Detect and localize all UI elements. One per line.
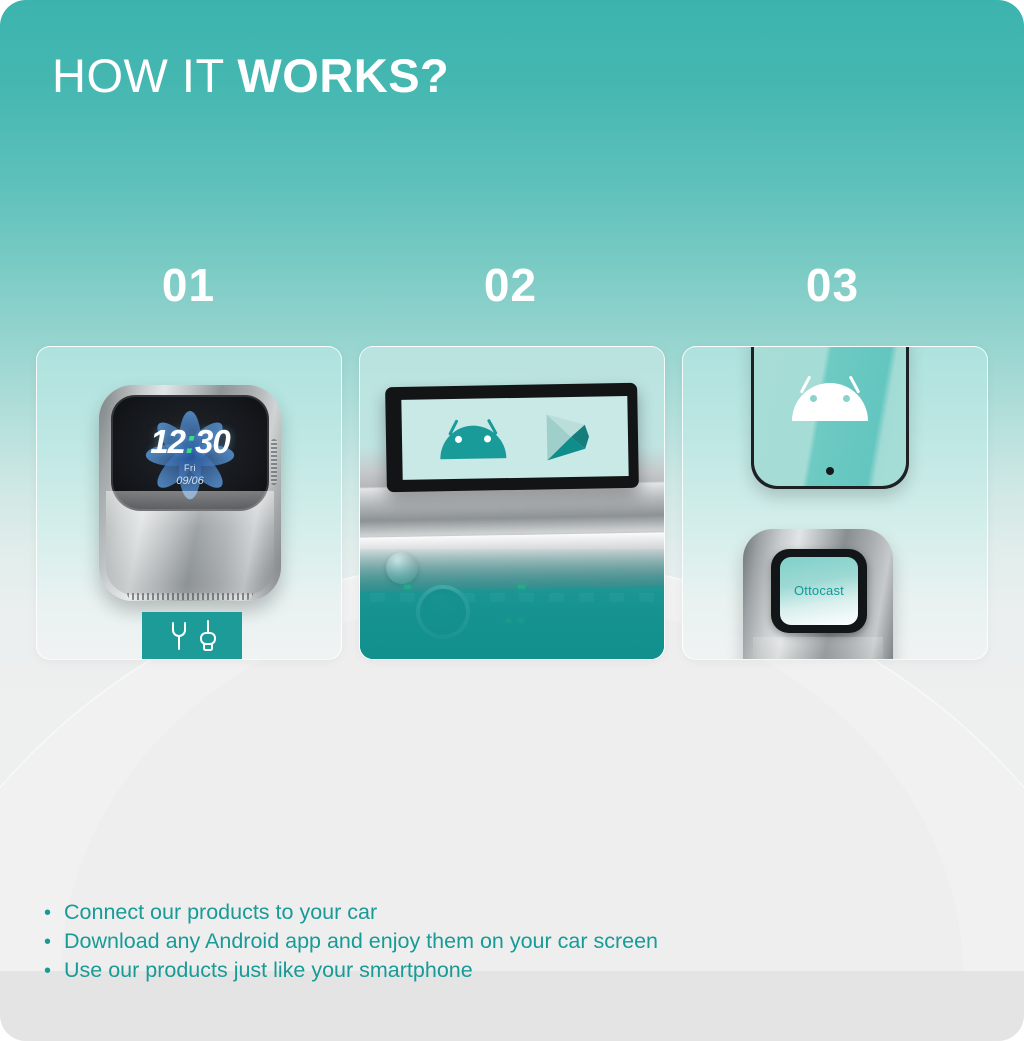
dongle-body-lower <box>753 637 883 660</box>
cable-connection-badge <box>142 612 242 659</box>
smartphone-screen <box>754 346 906 486</box>
ottocast-dongle-illustration: 12:30 Fri 09/06 <box>99 385 281 601</box>
bullet-marker-icon: • <box>44 928 64 956</box>
dongle-body-lower <box>106 491 274 595</box>
dongle-clock-weekday: Fri <box>111 463 269 473</box>
android-eye-right <box>484 435 491 442</box>
dongle-clock-date: 09/06 <box>111 475 269 487</box>
step-card-connect-device[interactable]: 12:30 Fri 09/06 <box>36 346 342 660</box>
android-robot-icon <box>792 375 868 421</box>
dongle-side-vents <box>271 439 277 485</box>
android-eye-right <box>843 395 850 402</box>
step-number-03: 03 <box>680 258 985 312</box>
bullet-text: Download any Android app and enjoy them … <box>64 927 658 955</box>
list-item: • Download any Android app and enjoy the… <box>44 927 658 956</box>
smartphone-illustration <box>751 346 909 489</box>
android-eye-left <box>810 395 817 402</box>
dongle-bottom-vents <box>127 593 253 600</box>
page-title-bold: WORKS? <box>237 49 449 102</box>
ottocast-dongle-illustration: Ottocast <box>743 529 893 660</box>
bullet-marker-icon: • <box>44 957 64 985</box>
clock-minutes: 30 <box>195 423 230 460</box>
bullet-text: Connect our products to your car <box>64 898 377 926</box>
feature-bullet-list: • Connect our products to your car • Dow… <box>44 898 658 985</box>
dongle-clock-time: 12:30 <box>111 423 269 461</box>
step-number-row: 01 02 03 <box>36 258 988 312</box>
step-card-phone-mirror[interactable]: Ottocast <box>682 346 988 660</box>
how-it-works-infographic: HOW IT WORKS? 01 02 03 <box>0 0 1024 1041</box>
step-card-row: 12:30 Fri 09/06 <box>36 346 988 660</box>
list-item: • Connect our products to your car <box>44 898 658 927</box>
page-title-light: HOW IT <box>52 49 237 102</box>
bullet-text: Use our products just like your smartpho… <box>64 956 473 984</box>
cable-icon <box>168 621 190 651</box>
list-item: • Use our products just like your smartp… <box>44 956 658 985</box>
dashboard-teal-glow <box>360 549 664 659</box>
usb-connector-icon <box>199 620 217 652</box>
page-title: HOW IT WORKS? <box>52 48 449 103</box>
bullet-marker-icon: • <box>44 899 64 927</box>
clock-hours: 12 <box>150 423 185 460</box>
step-number-01: 01 <box>36 258 341 312</box>
front-camera-dot-icon <box>826 467 834 475</box>
dongle-display-bezel: Ottocast <box>771 549 867 633</box>
step-number-02: 02 <box>358 258 663 312</box>
google-play-icon <box>544 412 591 463</box>
dongle-display-screen: Ottocast <box>780 557 858 625</box>
ottocast-brand-label: Ottocast <box>794 583 844 598</box>
car-head-unit-screen[interactable] <box>401 396 628 480</box>
clock-colon: : <box>185 423 195 460</box>
android-robot-icon <box>440 418 507 459</box>
step-card-car-dashboard[interactable] <box>359 346 665 660</box>
car-head-unit-frame <box>385 383 639 492</box>
